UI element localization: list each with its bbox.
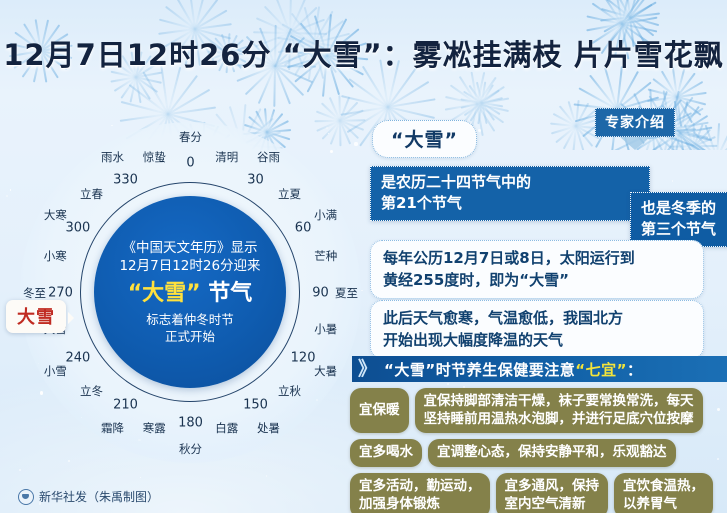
sparkle-dot (10, 189, 12, 191)
fact-box-order: 是农历二十四节气中的第21个节气 (370, 166, 650, 221)
center-headline-quoted: “大雪” (128, 281, 201, 306)
sparkle-dot (6, 195, 8, 197)
wheel-term-1: 清明 (215, 149, 238, 165)
expert-tag-label: 专家介绍 (595, 108, 675, 137)
sparkle-dot (266, 475, 268, 477)
daxue-pill-label: “大雪” (372, 120, 477, 158)
wheel-center-text: 《中国天文年历》显示 12月7日12时26分迎来 “大雪” 节气 标志着仲冬时节… (94, 196, 286, 388)
daxue-marker-label: 大雪 (17, 307, 55, 328)
wheel-term-12: 秋分 (179, 441, 202, 457)
center-line-1: 《中国天文年历》显示 (123, 239, 258, 257)
wheel-term-16: 小雪 (44, 363, 67, 379)
seven-tips-highlight: “七宜” (575, 361, 627, 379)
daxue-pill: “大雪” (372, 120, 477, 158)
center-line-4a: 标志着仲冬时节 (146, 311, 234, 328)
wheel-degree-20: 300 (65, 220, 90, 235)
seven-tips-header: 》 “大雪”时节养生保健要注意“七宜”： (352, 356, 727, 382)
center-headline-rest: 节气 (201, 281, 253, 306)
seven-tips-prefix: “大雪”时节养生保健要注意 (384, 361, 575, 379)
sparkle-dot (672, 180, 674, 182)
center-headline: “大雪” 节气 (128, 281, 253, 307)
wheel-term-22: 雨水 (101, 149, 124, 165)
center-line-4b: 正式开始 (165, 328, 215, 345)
seven-tips-title: “大雪”时节养生保健要注意“七宜”： (384, 359, 642, 380)
wheel-term-2: 谷雨 (257, 149, 280, 165)
wheel-term-10: 处暑 (257, 420, 280, 436)
wheel-degree-10: 150 (243, 398, 268, 413)
infographic-root: 12月7日12时26分 “大雪”：雾凇挂满枝 片片雪花飘 春分0清明谷雨30立夏… (0, 0, 727, 513)
tip-row: 宜多活动，勤运动，加强身体锻炼宜多通风，保持室内空气清新宜饮食温热，以养胃气 (350, 473, 727, 513)
tip-item: 宜多活动，勤运动，加强身体锻炼 (350, 473, 490, 513)
wheel-term-13: 寒露 (143, 420, 166, 436)
wheel-term-11: 白露 (215, 420, 238, 436)
seven-tips-suffix: ： (627, 361, 643, 379)
title-bar: 12月7日12时26分 “大雪”：雾凇挂满枝 片片雪花飘 (0, 22, 727, 84)
tip-row: 宜多喝水宜调整心态，保持安静平和，乐观豁达 (350, 439, 727, 467)
wheel-term-7: 小暑 (314, 321, 337, 337)
tip-item: 宜多通风，保持室内空气清新 (496, 473, 609, 513)
daxue-marker-badge: 大雪 (6, 300, 66, 333)
wheel-degree-6: 90 (312, 285, 329, 300)
wheel-term-5: 芒种 (314, 248, 337, 264)
tip-item: 宜保暖 (350, 388, 409, 433)
solar-term-wheel: 春分0清明谷雨30立夏小满60芒种夏至90小暑大暑120立秋处暑150白露秋分1… (18, 120, 363, 465)
wheel-degree-8: 120 (291, 350, 316, 365)
fact-box-date: 每年公历12月7日或8日，太阳运行到黄经255度时，即为“大雪” (370, 240, 704, 299)
wheel-term-23: 惊蛰 (143, 149, 166, 165)
expert-tag: 专家介绍 (595, 108, 675, 150)
tip-item: 宜调整心态，保持安静平和，乐观豁达 (428, 439, 676, 467)
credit-text: 新华社发（朱禹制图） (39, 488, 159, 505)
wheel-term-8: 大暑 (314, 363, 337, 379)
wheel-degree-14: 210 (113, 398, 138, 413)
page-title: 12月7日12时26分 “大雪”：雾凇挂满枝 片片雪花飘 (3, 32, 724, 74)
wheel-degree-22: 330 (113, 172, 138, 187)
fact-box-season: 也是冬季的第三个节气 (630, 192, 727, 247)
tip-row: 宜保暖宜保持脚部清洁干燥，袜子要常换常洗，每天坚持睡前用温热水泡脚，并进行足底穴… (350, 388, 727, 433)
tip-item: 宜保持脚部清洁干燥，袜子要常换常洗，每天坚持睡前用温热水泡脚，并进行足底穴位按摩 (415, 388, 703, 433)
wheel-degree-0: 0 (186, 155, 194, 170)
xinhua-logo-icon (18, 489, 34, 505)
wheel-term-4: 小满 (314, 207, 337, 223)
tip-item: 宜饮食温热，以养胃气 (614, 473, 713, 513)
sparkle-dot (140, 477, 141, 478)
wheel-term-14: 霜降 (101, 420, 124, 436)
wheel-degree-2: 30 (247, 172, 264, 187)
fact-box-weather: 此后天气愈寒，气温愈低，我国北方开始出现大幅度降温的天气 (370, 300, 704, 359)
seven-tips-list: 宜保暖宜保持脚部清洁干燥，袜子要常换常洗，每天坚持睡前用温热水泡脚，并进行足底穴… (350, 388, 727, 513)
wheel-degree-18: 270 (48, 285, 73, 300)
wheel-term-18: 冬至 (23, 285, 46, 301)
credit: 新华社发（朱禹制图） (18, 488, 159, 505)
wheel-term-20: 大寒 (44, 207, 67, 223)
center-line-2: 12月7日12时26分迎来 (119, 257, 260, 276)
wheel-term-19: 小寒 (44, 248, 67, 264)
tip-item: 宜多喝水 (350, 439, 422, 467)
expert-tag-pointer-icon (620, 137, 650, 150)
wheel-degree-4: 60 (295, 220, 312, 235)
wheel-degree-12: 180 (178, 415, 203, 430)
wheel-term-0: 春分 (179, 129, 202, 145)
wheel-term-6: 夏至 (335, 285, 358, 301)
chevron-right-icon: 》 (358, 360, 377, 379)
wheel-degree-16: 240 (65, 350, 90, 365)
sparkle-dot (709, 279, 710, 280)
